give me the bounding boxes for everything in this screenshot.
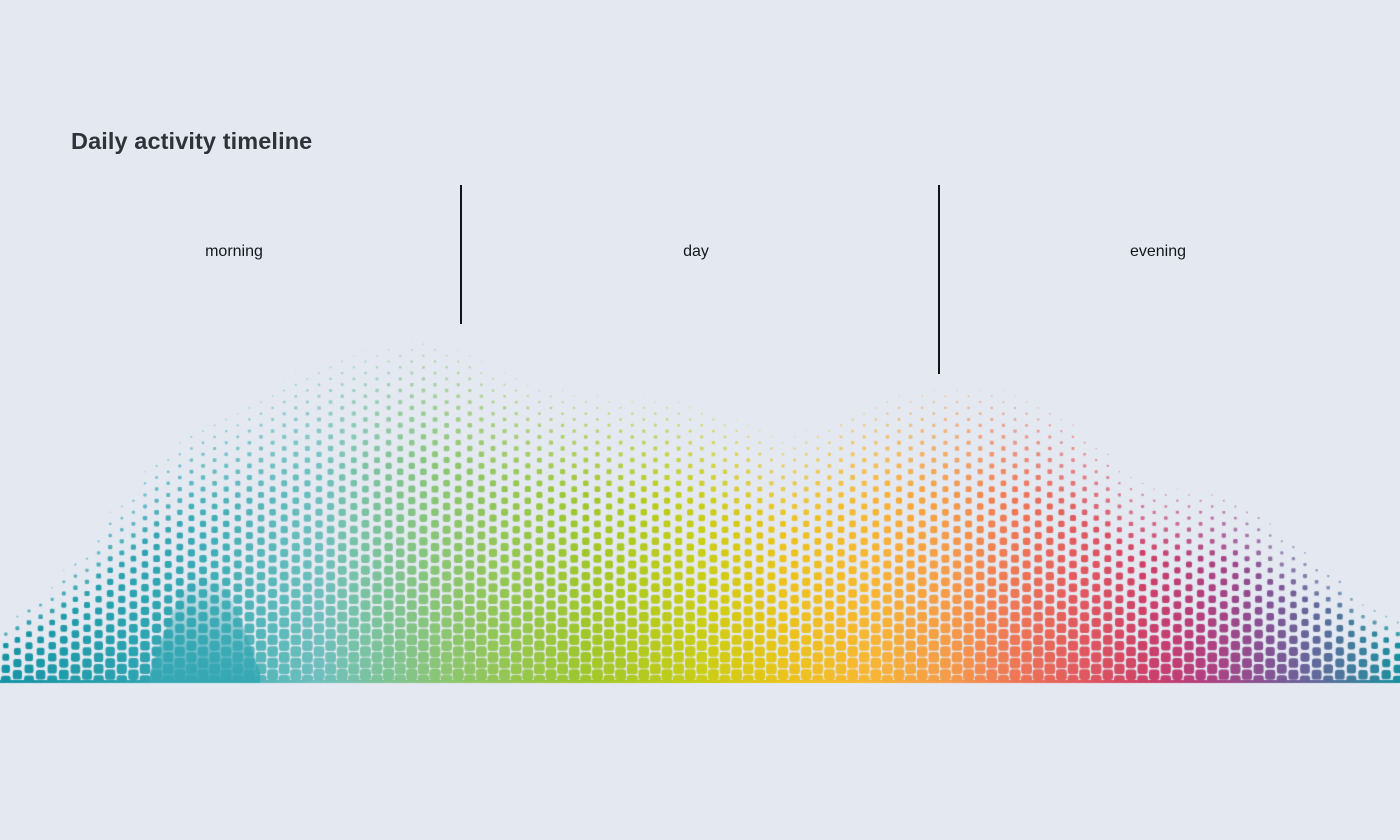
phase-label-morning: morning xyxy=(205,243,263,261)
phase-label-evening: evening xyxy=(1130,243,1186,261)
phase-label-day: day xyxy=(683,243,709,261)
divider-morning-day xyxy=(460,185,462,324)
divider-day-evening xyxy=(938,185,940,374)
chart-stage: Daily activity timeline morning day even… xyxy=(0,0,1400,840)
page-title: Daily activity timeline xyxy=(71,128,312,155)
halftone-area-chart xyxy=(0,0,1400,840)
